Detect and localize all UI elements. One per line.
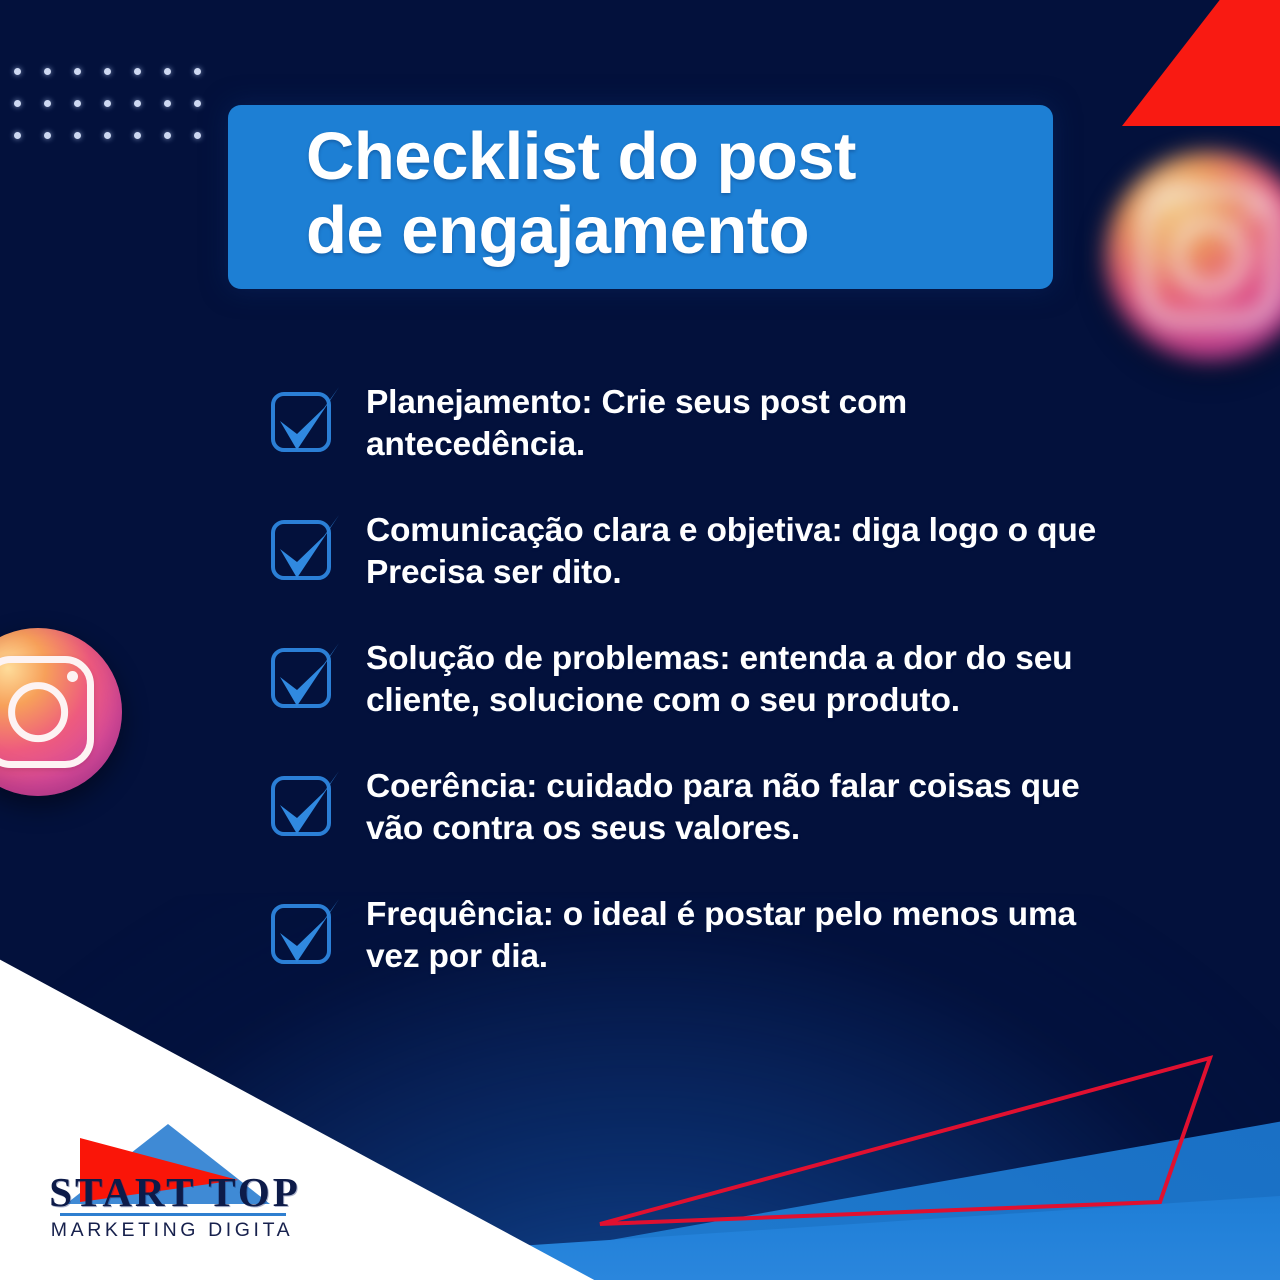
logo-name: START TOP <box>44 1168 306 1216</box>
list-item: Solução de problemas: entenda a dor do s… <box>270 638 1100 722</box>
instagram-glyph <box>1141 187 1280 326</box>
title-banner: Checklist do post de engajamento <box>228 105 1053 289</box>
red-outline-triangle-icon <box>598 1052 1218 1228</box>
checkbox-checked-icon <box>270 388 336 454</box>
instagram-glyph <box>0 656 94 767</box>
checkbox-checked-icon <box>270 644 336 710</box>
checkbox-checked-icon <box>270 772 336 838</box>
list-item: Planejamento: Crie seus post com anteced… <box>270 382 1100 466</box>
list-item-label: Planejamento: Crie seus post com anteced… <box>366 382 1100 466</box>
checkbox-checked-icon <box>270 516 336 582</box>
title-line-1: Checklist do post <box>306 120 1027 194</box>
brand-logo: START TOP MARKETING DIGITA <box>38 1116 306 1254</box>
poster-canvas: Checklist do post de engajamento Planeja… <box>0 0 1280 1280</box>
logo-divider <box>60 1213 286 1216</box>
title-line-2: de engajamento <box>306 194 1027 268</box>
list-item-label: Comunicação clara e objetiva: diga logo … <box>366 510 1100 594</box>
list-item-label: Coerência: cuidado para não falar coisas… <box>366 766 1100 850</box>
list-item-label: Solução de problemas: entenda a dor do s… <box>366 638 1100 722</box>
list-item-label: Frequência: o ideal é postar pelo menos … <box>366 894 1100 978</box>
checklist: Planejamento: Crie seus post com anteced… <box>270 382 1100 978</box>
dot-grid-icon <box>14 68 224 164</box>
logo-tagline: MARKETING DIGITA <box>38 1219 306 1242</box>
list-item: Comunicação clara e objetiva: diga logo … <box>270 510 1100 594</box>
list-item: Frequência: o ideal é postar pelo menos … <box>270 894 1100 978</box>
list-item: Coerência: cuidado para não falar coisas… <box>270 766 1100 850</box>
checkbox-checked-icon <box>270 900 336 966</box>
